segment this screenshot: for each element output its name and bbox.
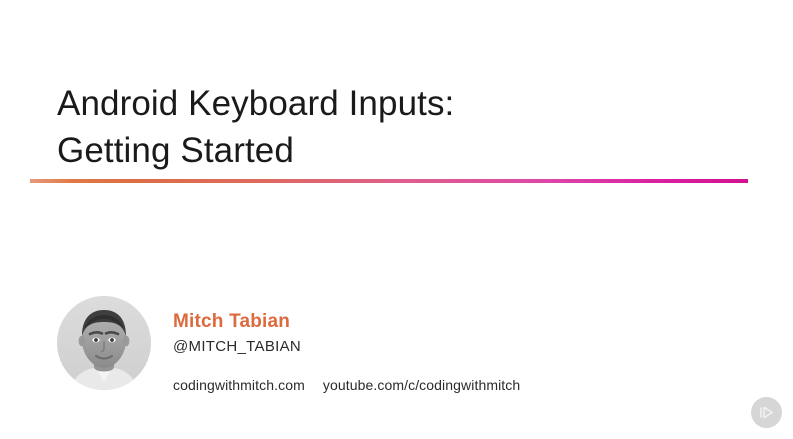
play-button-logo-icon [751, 397, 782, 428]
avatar [57, 296, 151, 390]
author-details: Mitch Tabian @MITCH_TABIAN codingwithmit… [173, 296, 520, 393]
gradient-divider [30, 179, 748, 183]
author-links: codingwithmitch.com youtube.com/c/coding… [173, 377, 520, 393]
author-block: Mitch Tabian @MITCH_TABIAN codingwithmit… [57, 296, 520, 393]
author-handle: @MITCH_TABIAN [173, 336, 520, 358]
link-youtube[interactable]: youtube.com/c/codingwithmitch [323, 377, 520, 393]
link-website[interactable]: codingwithmitch.com [173, 377, 305, 393]
title-line-2: Getting Started [57, 127, 757, 174]
title-line-1: Android Keyboard Inputs: [57, 80, 757, 127]
page-title: Android Keyboard Inputs: Getting Started [57, 80, 757, 174]
presentation-slide: Android Keyboard Inputs: Getting Started [0, 0, 793, 439]
author-name: Mitch Tabian [173, 310, 520, 334]
